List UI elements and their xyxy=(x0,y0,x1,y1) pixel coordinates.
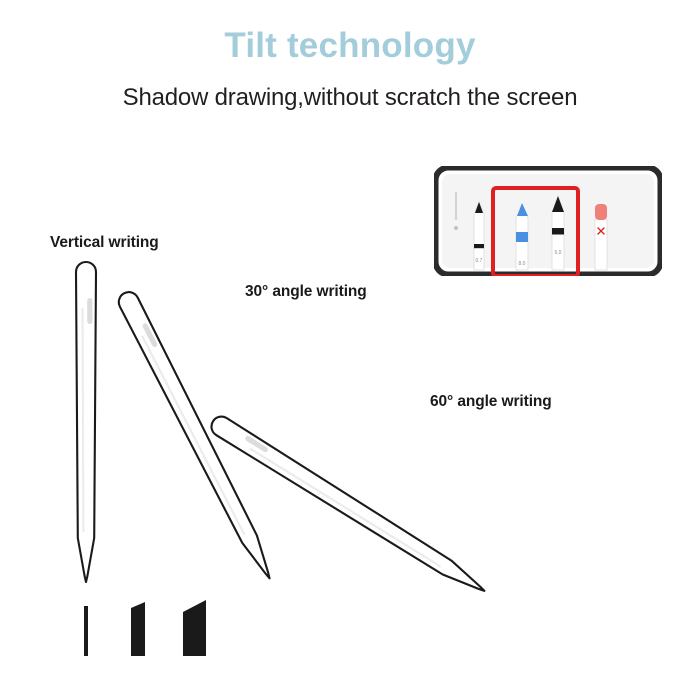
tool-size-label-pen-thin: 0.7 xyxy=(476,258,483,264)
stylus-60-degree xyxy=(208,413,490,600)
stylus-illustration-group xyxy=(0,0,700,700)
stroke-marks-group xyxy=(84,600,206,656)
tool-eraser[interactable] xyxy=(595,204,607,270)
tool-pen-thin[interactable]: 0.7 xyxy=(474,202,484,270)
infographic-canvas: Tilt technology Shadow drawing,without s… xyxy=(0,0,700,700)
tool-size-label-pen-thick: 5.0 xyxy=(555,250,562,256)
tablet-inset: 0.7 8.0 5.0 xyxy=(434,166,662,276)
stroke-mark-thin xyxy=(84,606,88,656)
stroke-mark-wide xyxy=(183,600,206,656)
stylus-vertical xyxy=(76,262,96,582)
stroke-mark-medium xyxy=(131,602,145,656)
tool-size-label-highlighter: 8.0 xyxy=(519,261,526,267)
